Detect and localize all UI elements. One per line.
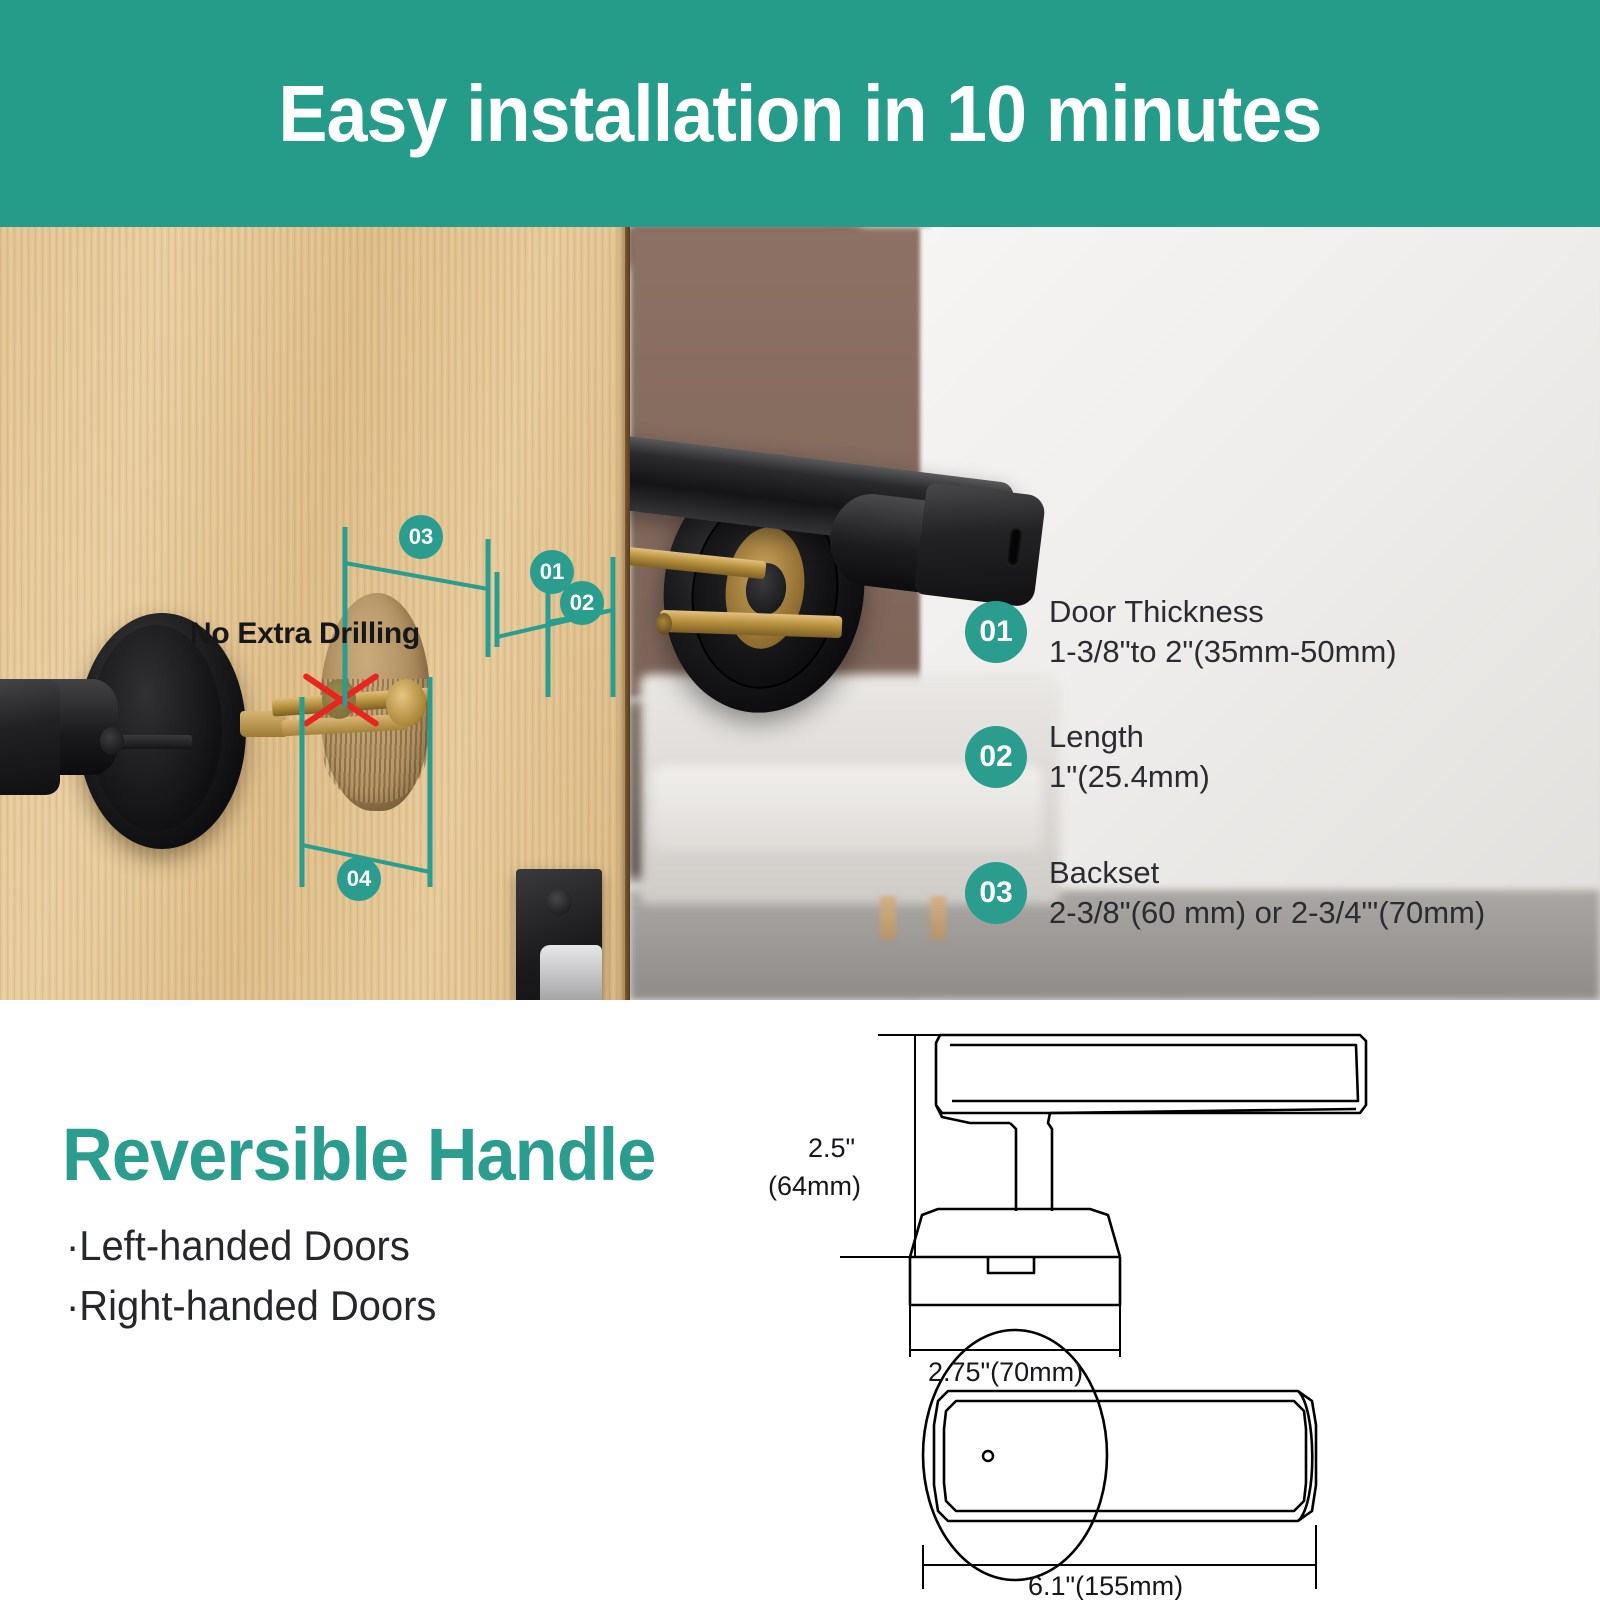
spec-text-02: Length 1"(25.4mm) — [1049, 717, 1210, 796]
drawing-svg — [760, 1005, 1460, 1595]
page-title: Easy installation in 10 minutes — [278, 68, 1321, 160]
left-photo-wood-door: 01 02 03 04 No Extra Drilling — [0, 227, 630, 1000]
spec-value-02: 1"(25.4mm) — [1049, 757, 1210, 797]
top-view-length-label: 6.1"(155mm) — [1028, 1571, 1183, 1600]
spec-value-01: 1-3/8"to 2"(35mm-50mm) — [1049, 632, 1397, 672]
exploded-lever-end — [914, 482, 1047, 608]
header-banner: Easy installation in 10 minutes — [0, 0, 1600, 227]
reversible-handle-title: Reversible Handle — [62, 1112, 655, 1197]
no-extra-drilling-label: No Extra Drilling — [190, 617, 420, 651]
spec-name-02: Length — [1049, 717, 1210, 757]
spec-badge-02: 02 — [965, 726, 1027, 788]
spec-row-03: 03 Backset 2-3/8"(60 mm) or 2-3/4"'(70mm… — [965, 853, 1485, 932]
side-view-height-label-inches: 2.5" — [808, 1133, 855, 1164]
dimension-overlay — [0, 227, 630, 1000]
spec-badge-03: 03 — [965, 862, 1027, 924]
bullet-right-handed: ·Right-handed Doors — [66, 1282, 436, 1330]
side-view-height-label-mm: (64mm) — [768, 1171, 861, 1202]
scene-sofa-leg — [880, 896, 896, 940]
spec-value-03: 2-3/8"(60 mm) or 2-3/4"'(70mm) — [1049, 893, 1485, 933]
spec-row-02: 02 Length 1"(25.4mm) — [965, 717, 1210, 796]
callout-badge-02: 02 — [560, 581, 604, 625]
callout-badge-04: 04 — [337, 857, 381, 901]
spindle-end-cap — [656, 613, 672, 635]
bullet-left-handed: ·Left-handed Doors — [66, 1222, 410, 1270]
callout-badge-03: 03 — [399, 515, 443, 559]
spec-text-01: Door Thickness 1-3/8"to 2"(35mm-50mm) — [1049, 592, 1397, 671]
spec-row-01: 01 Door Thickness 1-3/8"to 2"(35mm-50mm) — [965, 592, 1397, 671]
spec-name-01: Door Thickness — [1049, 592, 1397, 632]
spec-badge-01: 01 — [965, 601, 1027, 663]
spec-name-03: Backset — [1049, 853, 1485, 893]
spec-text-03: Backset 2-3/8"(60 mm) or 2-3/4"'(70mm) — [1049, 853, 1485, 932]
technical-drawings: 2.5" (64mm) 2.75"(70mm) 6.1"(155mm) — [760, 1005, 1460, 1595]
scene-sofa-leg — [930, 896, 946, 940]
side-view-width-label: 2.75"(70mm) — [928, 1357, 1083, 1388]
product-infographic: Easy installation in 10 minutes — [0, 0, 1600, 1600]
photo-strip: 01 02 03 04 No Extra Drilling — [0, 227, 1600, 1000]
